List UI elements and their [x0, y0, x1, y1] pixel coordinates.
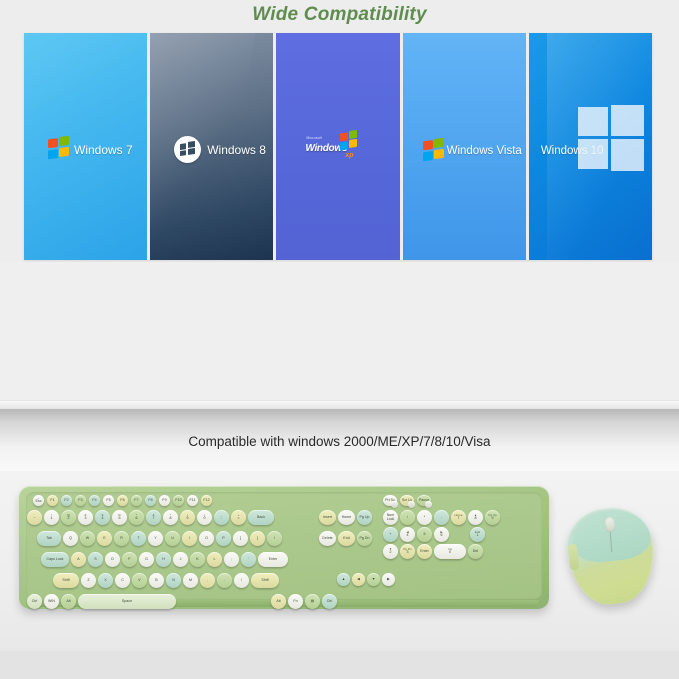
key-d[interactable]: D: [105, 552, 120, 567]
key-z[interactable]: Z: [81, 573, 96, 588]
key-7[interactable]: &7: [146, 510, 161, 525]
key-f[interactable]: F: [122, 552, 137, 567]
key-end[interactable]: End: [338, 531, 355, 546]
key-g[interactable]: G: [139, 552, 154, 567]
os-panel-suffix-windows-xp: xp: [345, 152, 353, 159]
os-panel-windows-7: Windows 7: [24, 33, 147, 260]
os-panel-sublabel-windows-xp: Microsoft: [306, 136, 322, 140]
key-esc[interactable]: ~Esc: [33, 495, 44, 506]
key-u[interactable]: U: [165, 531, 180, 546]
key-del[interactable]: Del: [468, 544, 483, 559]
key-o[interactable]: O: [199, 531, 214, 546]
key-[interactable]: ▤: [305, 594, 320, 609]
key-[interactable]: /: [234, 573, 249, 588]
key-[interactable]: ▶: [382, 573, 395, 586]
key-back[interactable]: Back: [248, 510, 274, 525]
key-0[interactable]: )0: [197, 510, 212, 525]
key-5[interactable]: %5: [112, 510, 127, 525]
key-j[interactable]: J: [173, 552, 188, 567]
key-home[interactable]: Home: [338, 510, 355, 525]
key-[interactable]: .: [217, 573, 232, 588]
product-feature-image: Wide Compatibility Windows 7 Windows 8 M…: [0, 0, 679, 679]
key-6[interactable]: ^6: [129, 510, 144, 525]
key-f1[interactable]: F1: [47, 495, 58, 506]
key-[interactable]: *: [417, 510, 432, 525]
key-r[interactable]: R: [114, 531, 129, 546]
key-i[interactable]: I: [182, 531, 197, 546]
page-title: Wide Compatibility: [0, 4, 679, 26]
key-[interactable]: [: [233, 531, 248, 546]
key-h[interactable]: H: [156, 552, 171, 567]
key-2[interactable]: ▼2: [383, 544, 398, 559]
key-6[interactable]: ▶6: [434, 527, 449, 542]
key-l[interactable]: L: [207, 552, 222, 567]
key-insert[interactable]: Insert: [319, 510, 336, 525]
retro-round-key-keyboard: ~EscF1F2F3F4F5F6F7F8F9F10F11F12 Prt ScSc…: [19, 486, 549, 609]
key-tab[interactable]: Tab: [37, 531, 61, 546]
key-8[interactable]: *8: [163, 510, 178, 525]
key-f9[interactable]: F9: [159, 495, 170, 506]
device-showcase-row: ASUS: [0, 262, 679, 405]
key-f12[interactable]: F12: [201, 495, 212, 506]
key-alt[interactable]: Alt: [271, 594, 286, 609]
key-0[interactable]: Ins0: [434, 544, 466, 559]
key-[interactable]: +: [383, 527, 398, 542]
key-9[interactable]: Pg Up9: [485, 510, 500, 525]
compatibility-caption: Compatible with windows 2000/ME/XP/7/8/1…: [0, 434, 679, 449]
key-[interactable]: ;: [224, 552, 239, 567]
os-panel-windows-xp: Microsoft Windows xp: [276, 33, 399, 260]
key-alt[interactable]: Alt: [61, 594, 76, 609]
key-a[interactable]: A: [71, 552, 86, 567]
windows-10-window-icon: [578, 105, 644, 171]
key-b[interactable]: B: [149, 573, 164, 588]
key-w[interactable]: W: [80, 531, 95, 546]
key-[interactable]: ': [241, 552, 256, 567]
key-shift[interactable]: Shift: [251, 573, 279, 588]
key-pg-up[interactable]: Pg Up: [357, 510, 372, 525]
key-1[interactable]: !1: [44, 510, 59, 525]
key-f4[interactable]: F4: [89, 495, 100, 506]
os-panel-label-windows-vista: Windows Vista: [447, 145, 522, 157]
key-4[interactable]: $4: [95, 510, 110, 525]
key-p[interactable]: P: [216, 531, 231, 546]
os-panel-label-windows-10: Windows 10: [541, 145, 604, 157]
windows-flag-icon: [340, 130, 359, 152]
key-m[interactable]: M: [183, 573, 198, 588]
key-shift[interactable]: Shift: [53, 573, 79, 588]
key-enter[interactable]: Enter: [417, 544, 432, 559]
key-f11[interactable]: F11: [187, 495, 198, 506]
key-3[interactable]: #3: [78, 510, 93, 525]
scroll-lock-indicator: [425, 501, 432, 508]
key-v[interactable]: V: [132, 573, 147, 588]
key-c[interactable]: C: [115, 573, 130, 588]
key-q[interactable]: Q: [63, 531, 78, 546]
key-f10[interactable]: F10: [173, 495, 184, 506]
key-9[interactable]: (9: [180, 510, 195, 525]
key-k[interactable]: K: [190, 552, 205, 567]
key-f8[interactable]: F8: [145, 495, 156, 506]
scroll-wheel: [604, 517, 616, 533]
key-x[interactable]: X: [98, 573, 113, 588]
key-1[interactable]: End1: [470, 527, 485, 542]
key-[interactable]: -: [434, 510, 449, 525]
os-panel-label-windows-7: Windows 7: [74, 143, 133, 157]
key-s[interactable]: S: [88, 552, 103, 567]
windows-8-badge-icon: [174, 136, 201, 163]
key-8[interactable]: ▲8: [468, 510, 483, 525]
key-f7[interactable]: F7: [131, 495, 142, 506]
key-[interactable]: +=: [231, 510, 246, 525]
key-[interactable]: ◀: [352, 573, 365, 586]
key-y[interactable]: Y: [148, 531, 163, 546]
key-[interactable]: /: [400, 510, 415, 525]
os-panel-label-windows-8: Windows 8: [207, 143, 266, 157]
key-2[interactable]: @2: [61, 510, 76, 525]
key-t[interactable]: T: [131, 531, 146, 546]
key-ctrl[interactable]: Ctrl: [27, 594, 42, 609]
key-[interactable]: `~: [27, 510, 42, 525]
key-f3[interactable]: F3: [75, 495, 86, 506]
key-f2[interactable]: F2: [61, 495, 72, 506]
key-5[interactable]: 5: [417, 527, 432, 542]
key-pg-dn[interactable]: Pg Dn: [357, 531, 372, 546]
key-fn[interactable]: Fn: [288, 594, 303, 609]
key-[interactable]: ,: [200, 573, 215, 588]
key-delete[interactable]: Delete: [319, 531, 336, 546]
os-panel-windows-10: Windows 10: [529, 33, 652, 260]
key-7[interactable]: Home7: [451, 510, 466, 525]
key-3[interactable]: Pg Dn3: [400, 544, 415, 559]
windows-xp-logo-icon: Microsoft Windows xp: [304, 134, 368, 166]
key-4[interactable]: ◀4: [400, 527, 415, 542]
key-e[interactable]: E: [97, 531, 112, 546]
os-compatibility-panel-strip: Windows 7 Windows 8 Microsoft Windows xp…: [24, 33, 652, 260]
key-[interactable]: ]: [250, 531, 265, 546]
key-[interactable]: _-: [214, 510, 229, 525]
os-panel-windows-8: Windows 8: [150, 33, 273, 260]
key-enter[interactable]: Enter: [258, 552, 288, 567]
windows-flag-icon: [48, 137, 70, 161]
key-ctrl[interactable]: Ctrl: [322, 594, 337, 609]
key-f6[interactable]: F6: [117, 495, 128, 506]
key-[interactable]: \: [267, 531, 282, 546]
windows-flag-icon: [423, 139, 445, 163]
key-caps-lock[interactable]: Caps Lock: [41, 552, 69, 567]
key-[interactable]: ▲: [337, 573, 350, 586]
key-[interactable]: ▼: [367, 573, 380, 586]
key-space[interactable]: Space: [78, 594, 176, 609]
key-n[interactable]: N: [166, 573, 181, 588]
key-win[interactable]: WIN: [44, 594, 59, 609]
key-num-lock[interactable]: Num Lock: [383, 510, 398, 525]
caps-lock-indicator: [408, 501, 415, 508]
wireless-mouse: [568, 508, 654, 604]
os-panel-windows-vista: Windows Vista: [403, 33, 526, 260]
num-lock-indicator: [391, 501, 398, 508]
key-f5[interactable]: F5: [103, 495, 114, 506]
